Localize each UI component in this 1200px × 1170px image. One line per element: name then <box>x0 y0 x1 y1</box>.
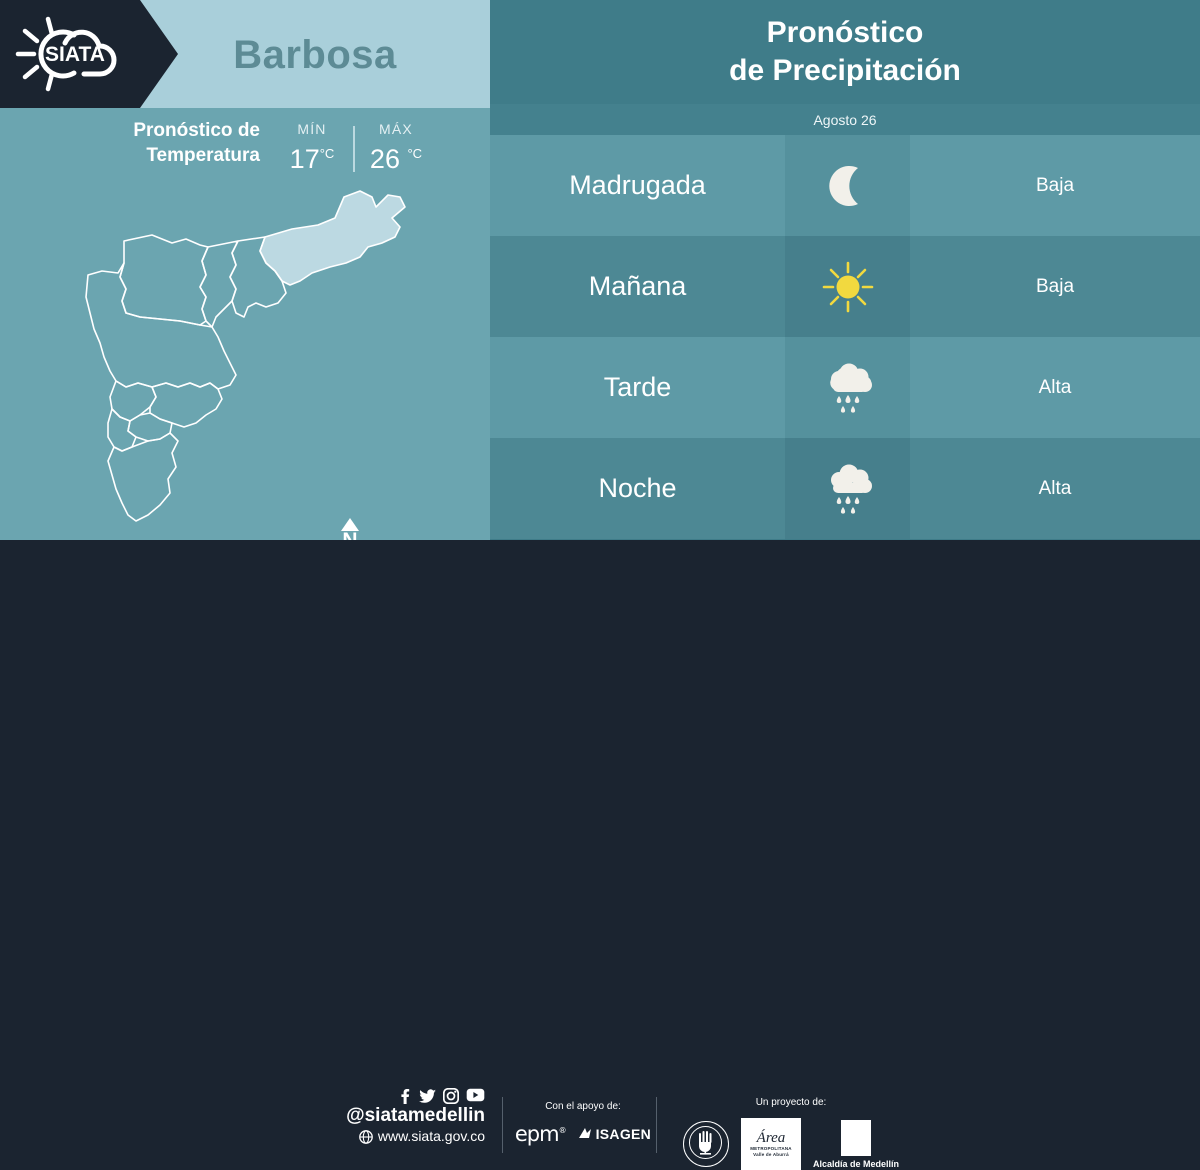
table-row[interactable]: Tarde <box>490 337 1200 438</box>
social-handle[interactable]: @siatamedellin <box>325 1105 485 1127</box>
footer-divider <box>502 1097 503 1153</box>
support-block: Con el apoyo de: epm® ISAGEN <box>510 1100 656 1146</box>
footer: @siatamedellin www.siata.gov.co Con el a… <box>0 540 1200 630</box>
forecast-date: Agosto 26 <box>813 112 876 128</box>
forecast-date-band: Agosto 26 <box>490 104 1200 135</box>
rain-cloud-icon <box>819 360 877 416</box>
table-row[interactable]: Mañana <box>490 236 1200 337</box>
period-label: Mañana <box>589 271 687 302</box>
max-temperature: MÁX 26 °C <box>359 120 433 174</box>
aburra-valley-map: N <box>60 185 440 530</box>
max-unit: °C <box>407 146 422 161</box>
universidad-seal-icon <box>685 1122 726 1163</box>
max-value: 26 °C <box>359 139 433 174</box>
probability-cell: Alta <box>910 337 1200 438</box>
temperature-panel: Barbosa SIATA Pronóstico de Temperatur <box>0 0 490 540</box>
icon-cell <box>785 236 910 337</box>
temperature-title: Pronóstico de Temperatura <box>60 118 260 168</box>
website-line[interactable]: www.siata.gov.co <box>325 1127 485 1146</box>
max-number: 26 <box>370 144 400 174</box>
project-logos: Área METROPOLITANA Valle de Aburrá Alcal… <box>666 1118 916 1170</box>
table-row[interactable]: Noche <box>490 438 1200 539</box>
epm-logo[interactable]: epm® <box>515 1122 566 1146</box>
period-label: Madrugada <box>569 170 706 201</box>
map-svg <box>60 185 440 530</box>
social-block: @siatamedellin www.siata.gov.co <box>325 1088 485 1146</box>
rain-cloud-icon <box>819 461 877 517</box>
temperature-values: MÍN 17°C MÁX 26 °C <box>275 120 433 174</box>
min-number: 17 <box>290 144 320 174</box>
twitter-icon[interactable] <box>419 1088 436 1104</box>
isagen-mark-icon <box>578 1127 594 1141</box>
min-unit: °C <box>320 146 335 161</box>
support-logos: epm® ISAGEN <box>510 1122 656 1146</box>
alcaldia-mark-icon <box>841 1120 871 1156</box>
project-block: Un proyecto de: <box>666 1096 916 1170</box>
period-cell: Mañana <box>490 236 785 337</box>
support-caption: Con el apoyo de: <box>510 1100 656 1113</box>
map-region-barbosa <box>260 191 405 285</box>
temperature-block: Pronóstico de Temperatura MÍN 17°C MÁX 2… <box>60 118 430 180</box>
weather-forecast-poster: Barbosa SIATA Pronóstico de Temperatur <box>0 0 1200 630</box>
period-label: Noche <box>598 473 676 504</box>
isagen-logo[interactable]: ISAGEN <box>578 1126 651 1142</box>
max-label: MÁX <box>359 120 433 139</box>
probability-label: Baja <box>1036 276 1074 298</box>
svg-text:SIATA: SIATA <box>45 43 105 66</box>
youtube-icon[interactable] <box>466 1088 485 1102</box>
probability-label: Alta <box>1039 478 1072 500</box>
table-row[interactable]: Madrugada Baja <box>490 135 1200 236</box>
footer-divider <box>656 1097 657 1153</box>
icon-cell <box>785 135 910 236</box>
moon-icon <box>822 160 874 212</box>
social-icons <box>325 1088 485 1104</box>
temperature-title-line1: Pronóstico de <box>60 118 260 143</box>
probability-label: Baja <box>1036 175 1074 197</box>
area-metropolitana-logo[interactable]: Área METROPOLITANA Valle de Aburrá <box>741 1118 801 1170</box>
probability-cell: Baja <box>910 236 1200 337</box>
facebook-icon[interactable] <box>397 1088 412 1104</box>
alcaldia-logo[interactable]: Alcaldía de Medellín <box>813 1120 899 1169</box>
globe-icon <box>359 1130 373 1144</box>
min-label: MÍN <box>275 120 349 139</box>
instagram-icon[interactable] <box>443 1088 459 1104</box>
alcaldia-name: Alcaldía de Medellín <box>813 1159 899 1169</box>
period-cell: Tarde <box>490 337 785 438</box>
forecast-title-line2: de Precipitación <box>490 52 1200 90</box>
precipitation-panel: Pronóstico de Precipitación Agosto 26 Ma… <box>490 0 1200 540</box>
min-value: 17°C <box>275 139 349 174</box>
project-caption: Un proyecto de: <box>666 1096 916 1109</box>
forecast-title: Pronóstico de Precipitación <box>490 14 1200 90</box>
temperature-title-line2: Temperatura <box>60 143 260 168</box>
area-name: Área <box>757 1131 786 1146</box>
probability-cell: Baja <box>910 135 1200 236</box>
area-sub2: Valle de Aburrá <box>753 1152 789 1158</box>
period-cell: Madrugada <box>490 135 785 236</box>
siata-logo-badge[interactable]: SIATA <box>0 0 178 108</box>
website-url: www.siata.gov.co <box>378 1127 485 1146</box>
icon-cell <box>785 337 910 438</box>
forecast-rows: Madrugada Baja Mañana <box>490 135 1200 540</box>
icon-cell <box>785 438 910 539</box>
page-title: Barbosa <box>150 24 480 86</box>
period-cell: Noche <box>490 438 785 539</box>
probability-label: Alta <box>1039 377 1072 399</box>
min-temperature: MÍN 17°C <box>275 120 349 174</box>
period-label: Tarde <box>604 372 672 403</box>
sun-cloud-icon: SIATA <box>12 12 140 96</box>
universidad-seal-logo[interactable] <box>683 1121 729 1167</box>
sun-icon <box>820 259 876 315</box>
temperature-divider <box>353 126 355 172</box>
forecast-title-line1: Pronóstico <box>490 14 1200 52</box>
probability-cell: Alta <box>910 438 1200 539</box>
